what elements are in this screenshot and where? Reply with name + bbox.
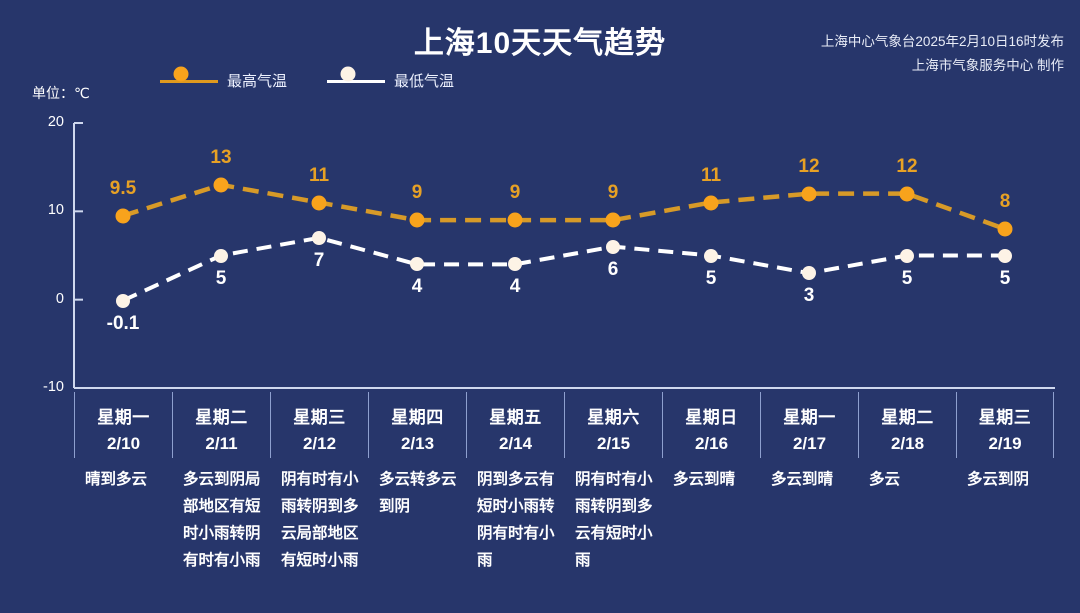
day-column: 星期三2/19 xyxy=(956,392,1054,458)
low-temp-point xyxy=(606,240,620,254)
low-temp-value-label: 3 xyxy=(804,285,815,307)
day-date-label: 2/13 xyxy=(369,434,466,454)
low-temp-value-label: 5 xyxy=(216,268,227,290)
day-weather-description: 晴到多云 xyxy=(85,466,163,493)
low-temp-value-label: 5 xyxy=(706,268,717,290)
y-axis-tick-label: 10 xyxy=(18,202,64,218)
day-date-label: 2/15 xyxy=(565,434,662,454)
high-temp-value-label: 9.5 xyxy=(110,178,136,200)
high-temp-point xyxy=(802,186,817,201)
day-column: 星期一2/10 xyxy=(74,392,172,458)
y-axis-tick-label: 20 xyxy=(18,114,64,130)
low-temp-point xyxy=(900,249,914,263)
low-temp-point xyxy=(802,266,816,280)
day-weekday-label: 星期三 xyxy=(271,403,368,428)
day-column: 星期六2/15 xyxy=(564,392,662,458)
day-column: 星期三2/12 xyxy=(270,392,368,458)
day-column: 星期日2/16 xyxy=(662,392,760,458)
low-temp-value-label: 6 xyxy=(608,259,619,281)
low-temp-point xyxy=(998,249,1012,263)
high-temp-point xyxy=(508,213,523,228)
day-date-label: 2/17 xyxy=(761,434,858,454)
y-axis-tick-label: -10 xyxy=(18,379,64,395)
day-weekday-label: 星期二 xyxy=(173,403,270,428)
low-temp-line xyxy=(123,238,1005,301)
day-weekday-label: 星期一 xyxy=(75,403,172,428)
low-temp-value-label: -0.1 xyxy=(107,313,140,335)
day-weekday-label: 星期三 xyxy=(957,403,1053,428)
high-temp-point xyxy=(214,177,229,192)
high-temp-value-label: 12 xyxy=(798,156,819,178)
day-weekday-label: 星期一 xyxy=(761,403,858,428)
low-temp-point xyxy=(410,257,424,271)
day-weekday-label: 星期二 xyxy=(859,403,956,428)
high-temp-value-label: 11 xyxy=(309,165,329,187)
day-weather-description: 多云转多云到阴 xyxy=(379,466,457,520)
high-temp-point xyxy=(998,222,1013,237)
day-weekday-label: 星期四 xyxy=(369,403,466,428)
day-weather-description: 多云到晴 xyxy=(771,466,849,493)
low-temp-point xyxy=(704,249,718,263)
day-date-label: 2/18 xyxy=(859,434,956,454)
y-axis-tick-label: 0 xyxy=(18,291,64,307)
low-temp-point xyxy=(214,249,228,263)
day-column: 星期四2/13 xyxy=(368,392,466,458)
high-temp-point xyxy=(312,195,327,210)
day-date-label: 2/19 xyxy=(957,434,1053,454)
low-temp-point xyxy=(508,257,522,271)
high-temp-point xyxy=(410,213,425,228)
low-temp-value-label: 5 xyxy=(1000,268,1011,290)
high-temp-value-label: 8 xyxy=(1000,191,1011,213)
high-temp-value-label: 11 xyxy=(701,165,721,187)
day-weekday-label: 星期日 xyxy=(663,403,760,428)
day-weekday-label: 星期六 xyxy=(565,403,662,428)
high-temp-value-label: 9 xyxy=(510,182,521,204)
day-date-label: 2/11 xyxy=(173,434,270,454)
day-date-label: 2/10 xyxy=(75,434,172,454)
day-weather-description: 多云到阴局部地区有短时小雨转阴有时有小雨 xyxy=(183,466,261,574)
high-temp-point xyxy=(606,213,621,228)
day-weather-description: 阴有时有小雨转阴到多云有短时小雨 xyxy=(575,466,653,574)
day-column: 星期一2/17 xyxy=(760,392,858,458)
high-temp-point xyxy=(704,195,719,210)
day-weather-description: 阴到多云有短时小雨转阴有时有小雨 xyxy=(477,466,555,574)
high-temp-point xyxy=(900,186,915,201)
low-temp-point xyxy=(116,294,130,308)
day-weather-description: 多云到阴 xyxy=(967,466,1045,493)
low-temp-value-label: 4 xyxy=(510,276,521,298)
low-temp-value-label: 5 xyxy=(902,268,913,290)
day-weather-description: 多云 xyxy=(869,466,947,493)
high-temp-value-label: 9 xyxy=(608,182,619,204)
day-weekday-label: 星期五 xyxy=(467,403,564,428)
high-temp-value-label: 13 xyxy=(210,147,231,169)
day-weather-description: 多云到晴 xyxy=(673,466,751,493)
low-temp-point xyxy=(312,231,326,245)
low-temp-value-label: 7 xyxy=(314,250,325,272)
day-column: 星期二2/18 xyxy=(858,392,956,458)
high-temp-line xyxy=(123,185,1005,229)
day-column: 星期二2/11 xyxy=(172,392,270,458)
high-temp-point xyxy=(116,208,131,223)
day-date-label: 2/12 xyxy=(271,434,368,454)
day-date-label: 2/16 xyxy=(663,434,760,454)
high-temp-value-label: 9 xyxy=(412,182,423,204)
high-temp-value-label: 12 xyxy=(896,156,917,178)
day-weather-description: 阴有时有小雨转阴到多云局部地区有短时小雨 xyxy=(281,466,359,574)
low-temp-value-label: 4 xyxy=(412,276,423,298)
day-column: 星期五2/14 xyxy=(466,392,564,458)
day-date-label: 2/14 xyxy=(467,434,564,454)
